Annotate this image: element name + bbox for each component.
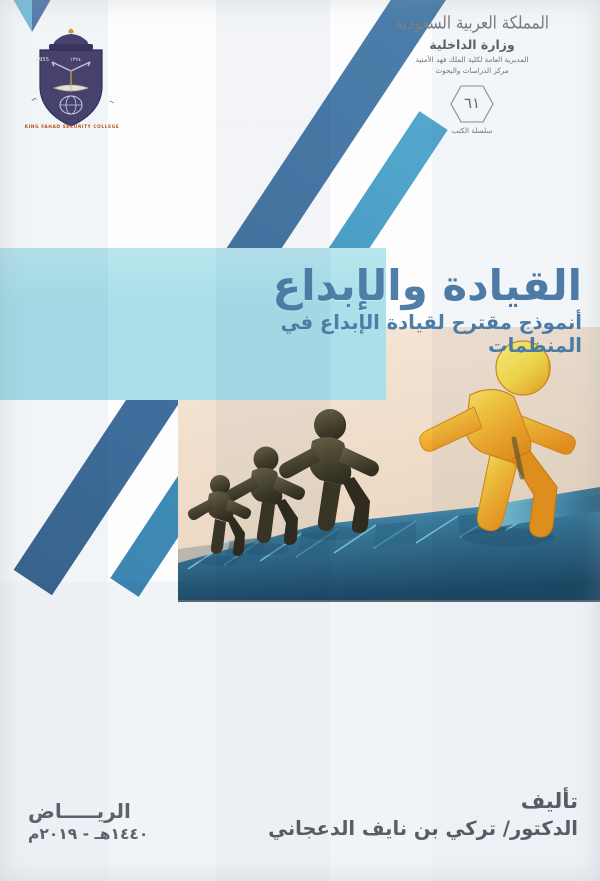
author-label: تأليف	[248, 789, 578, 813]
cover-header: 1955 ١٣٧٤ كلية الملك فهد الأمنية المملكة…	[0, 0, 600, 140]
publication-city: الريـــــاض	[28, 799, 218, 823]
ministry-name-text: وزارة الداخلية	[362, 37, 582, 52]
cap-shape	[49, 29, 93, 51]
hexagon-badge-icon: ٦١	[449, 84, 495, 124]
author-block: تأليف الدكتور/ تركي بن نايف الدعجاني	[248, 789, 578, 841]
book-cover: 1955 ١٣٧٤ كلية الملك فهد الأمنية المملكة…	[0, 0, 600, 881]
emblem-year-hijri: ١٣٧٤	[70, 57, 81, 63]
college-emblem-logo: 1955 ١٣٧٤ كلية الملك فهد الأمنية المملكة…	[18, 14, 124, 132]
kingdom-calligraphy-text: المملكة العربية السعودية	[362, 13, 582, 35]
research-center-text: مركز الدراسات والبحوث	[362, 66, 582, 76]
book-series-badge: ٦١ سلسلة الكتب	[362, 84, 582, 135]
page-subtitle: أنموذج مقترح لقيادة الإبداع في المنظمات	[222, 311, 582, 358]
publication-block: الريـــــاض ١٤٤٠هـ - ٢٠١٩م	[28, 799, 218, 843]
title-text-group: القيادة والإبداع أنموذج مقترح لقيادة الإ…	[222, 248, 582, 358]
ministry-header-block: المملكة العربية السعودية وزارة الداخلية …	[362, 14, 582, 135]
series-label-text: سلسلة الكتب	[452, 126, 493, 135]
publication-date: ١٤٤٠هـ - ٢٠١٩م	[28, 825, 218, 843]
series-number-text: ٦١	[449, 84, 495, 124]
page-title: القيادة والإبداع	[222, 262, 582, 309]
author-name: الدكتور/ تركي بن نايف الدعجاني	[248, 817, 578, 841]
svg-text:كلية الملك فهد الأمنية: كلية الملك فهد الأمنية	[18, 14, 37, 103]
emblem-year-gregorian: 1955	[36, 57, 49, 63]
college-english-name: KING FAHAD SECURITY COLLEGE	[24, 125, 120, 130]
directorate-name-text: المديرية العامة لكلية الملك فهد الأمنية	[362, 55, 582, 65]
